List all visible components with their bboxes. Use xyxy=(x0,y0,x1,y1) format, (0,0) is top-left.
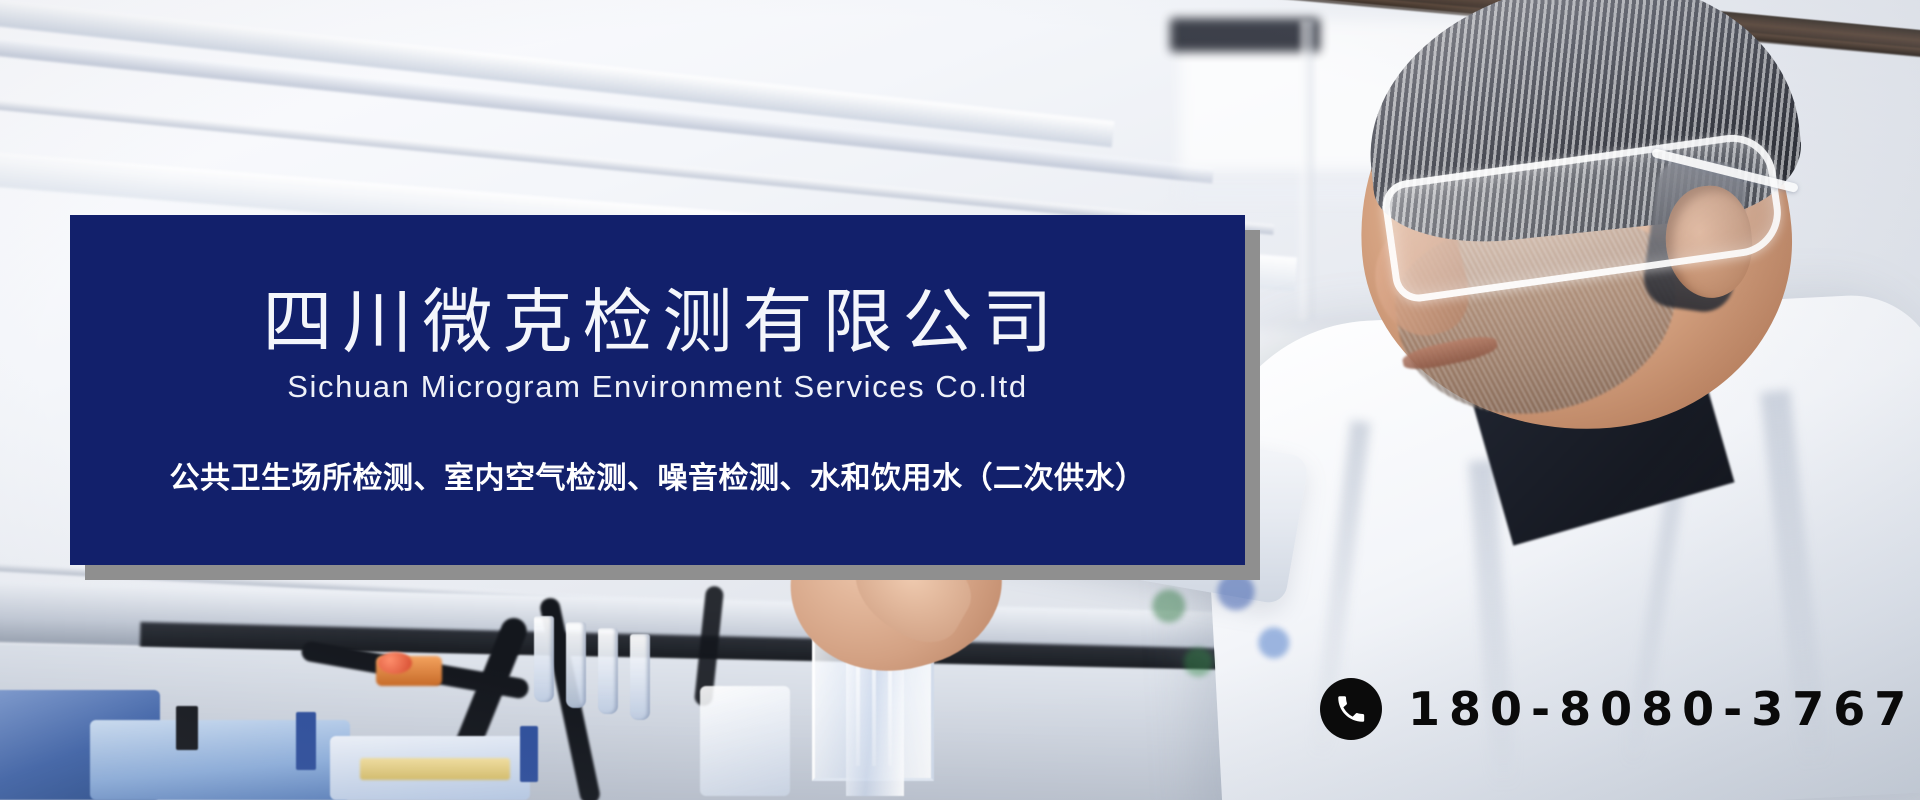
test-tube xyxy=(566,622,586,708)
bottle-cap xyxy=(176,706,198,750)
glass-flask xyxy=(700,686,790,796)
bottle-cap xyxy=(296,712,316,770)
phone-number-text[interactable]: 180-8080-3767 xyxy=(1408,686,1915,732)
test-tube xyxy=(630,634,650,720)
company-banner: 四川微克检测有限公司 Sichuan Microgram Environment… xyxy=(70,215,1245,565)
red-indicator xyxy=(378,652,412,674)
company-name-english: Sichuan Microgram Environment Services C… xyxy=(287,371,1027,402)
test-tube xyxy=(598,628,618,714)
reagent-label xyxy=(360,758,510,780)
phone-handset-icon[interactable] xyxy=(1320,678,1382,740)
bottle-cap xyxy=(520,726,538,782)
services-tagline: 公共卫生场所检测、室内空气检测、噪音检测、水和饮用水（二次供水） xyxy=(170,464,1146,494)
contact-phone-block[interactable]: 180-8080-3767 xyxy=(1320,678,1915,740)
hero-banner-page: 四川微克检测有限公司 Sichuan Microgram Environment… xyxy=(0,0,1920,800)
test-tube xyxy=(534,616,554,702)
company-name-chinese: 四川微克检测有限公司 xyxy=(253,287,1063,357)
